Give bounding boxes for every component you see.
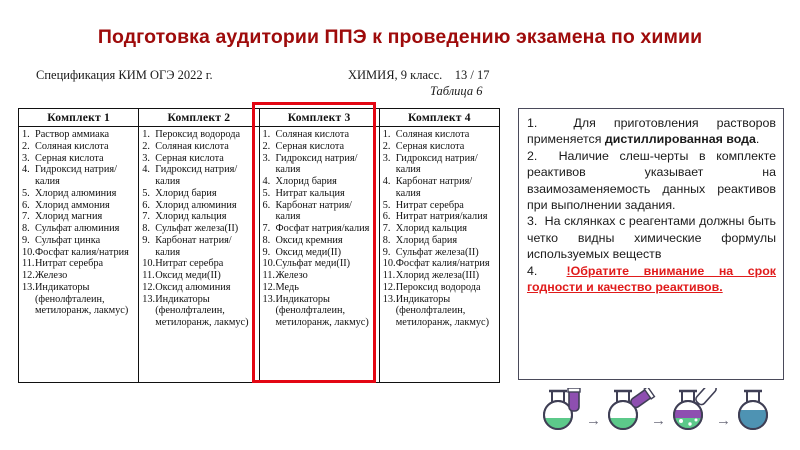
reagent-index: 6. xyxy=(383,211,396,223)
reagent-name: Сульфат меди(II) xyxy=(276,258,377,270)
arrow-1-icon: → xyxy=(586,412,601,429)
reagent-name: Железо xyxy=(276,270,377,282)
reagent-index: 5. xyxy=(263,188,276,200)
reagent-name: Серная кислота xyxy=(155,153,256,165)
reagent-name: Пероксид водорода xyxy=(155,129,256,141)
reagent-index: 12. xyxy=(22,270,35,282)
reagent-list: 1.Соляная кислота2.Серная кислота3.Гидро… xyxy=(380,127,499,331)
reagent-index: 2. xyxy=(383,141,396,153)
reagent-name: Оксид меди(II) xyxy=(276,247,377,259)
reagent-name: Индикаторы (фенолфталеин, метилоранж, ла… xyxy=(155,294,256,329)
reagent-name: Индикаторы (фенолфталеин, метилоранж, ла… xyxy=(276,294,377,329)
table-caption: Таблица 6 xyxy=(430,84,482,99)
reagent-index: 9. xyxy=(22,235,35,247)
reagent-index: 6. xyxy=(22,200,35,212)
reagent-name: Нитрат натрия/калия xyxy=(396,211,497,223)
reagent-item: 13.Индикаторы (фенолфталеин, метилоранж,… xyxy=(263,294,377,329)
reagent-index: 10. xyxy=(22,247,35,259)
note-number: 3. xyxy=(527,214,545,228)
reagent-item: 3.Гидроксид натрия/калия xyxy=(383,153,497,177)
kit-column-header: Комплект 4 xyxy=(380,109,499,127)
reagent-name: Нитрат серебра xyxy=(35,258,136,270)
reagent-index: 4. xyxy=(22,164,35,176)
reagent-index: 1. xyxy=(383,129,396,141)
reagent-index: 12. xyxy=(383,282,396,294)
reagent-item: 6.Нитрат натрия/калия xyxy=(383,211,497,223)
reaction-step-4-flask xyxy=(737,391,769,434)
reagent-item: 6.Хлорид алюминия xyxy=(142,200,256,212)
document-header: Спецификация КИМ ОГЭ 2022 г. ХИМИЯ, 9 кл… xyxy=(18,68,498,83)
reagent-index: 7. xyxy=(263,223,276,235)
reagent-kits-table: Комплект 11.Раствор аммиака2.Соляная кис… xyxy=(18,108,500,383)
reagent-item: 12.Пероксид водорода xyxy=(383,282,497,294)
reagent-index: 12. xyxy=(142,282,155,294)
reagent-index: 5. xyxy=(22,188,35,200)
note-number: 1. xyxy=(527,116,573,130)
reagent-item: 13.Индикаторы (фенолфталеин, метилоранж,… xyxy=(22,282,136,317)
arrow-3-icon: → xyxy=(716,412,731,429)
reagent-item: 9.Оксид меди(II) xyxy=(263,247,377,259)
reagent-name: Раствор аммиака xyxy=(35,129,136,141)
reagent-item: 4.Хлорид бария xyxy=(263,176,377,188)
reagent-item: 3.Серная кислота xyxy=(22,153,136,165)
reagent-name: Хлорид алюминия xyxy=(35,188,136,200)
reagent-name: Хлорид кальция xyxy=(396,223,497,235)
reagent-index: 5. xyxy=(142,188,155,200)
reagent-index: 8. xyxy=(263,235,276,247)
reagent-index: 13. xyxy=(22,282,35,294)
reagent-index: 4. xyxy=(142,164,155,176)
note-item-3: 3. На склянках с реагентами должны быть … xyxy=(527,213,776,262)
reagent-name: Пероксид водорода xyxy=(396,282,497,294)
reagent-name: Гидроксид натрия/калия xyxy=(35,164,136,188)
reagent-name: Гидроксид натрия/калия xyxy=(155,164,256,188)
reagent-item: 7.Фосфат натрия/калия xyxy=(263,223,377,235)
note-number: 4. xyxy=(527,264,567,278)
kit-column-header: Комплект 1 xyxy=(19,109,138,127)
reagent-item: 4.Карбонат натрия/калия xyxy=(383,176,497,200)
kit-column-4: Комплект 41.Соляная кислота2.Серная кисл… xyxy=(380,109,499,382)
reagent-name: Гидроксид натрия/калия xyxy=(396,153,497,177)
reagent-name: Хлорид алюминия xyxy=(155,200,256,212)
reagent-name: Хлорид железа(III) xyxy=(396,270,497,282)
reagent-name: Соляная кислота xyxy=(396,129,497,141)
reagent-item: 8.Сульфат железа(II) xyxy=(142,223,256,235)
reagent-item: 9.Карбонат натрия/калия xyxy=(142,235,256,259)
note-item-4: 4. !Обратите внимание на срок годности и… xyxy=(527,263,776,296)
specification-label: Спецификация КИМ ОГЭ 2022 г. xyxy=(36,68,213,83)
note-number: 2. xyxy=(527,149,559,163)
reagent-item: 2.Соляная кислота xyxy=(142,141,256,153)
reagent-item: 7.Хлорид кальция xyxy=(142,211,256,223)
reagent-name: Карбонат натрия/калия xyxy=(396,176,497,200)
reagent-item: 11.Железо xyxy=(263,270,377,282)
reagent-item: 11.Оксид меди(II) xyxy=(142,270,256,282)
reagent-index: 6. xyxy=(142,200,155,212)
chemistry-reaction-illustration: → → xyxy=(518,388,784,446)
notes-panel: 1. Для приготовления растворов применяет… xyxy=(518,108,784,380)
reagent-item: 10.Сульфат меди(II) xyxy=(263,258,377,270)
reagent-item: 9.Сульфат цинка xyxy=(22,235,136,247)
reagent-name: Соляная кислота xyxy=(155,141,256,153)
reagent-list: 1.Соляная кислота2.Серная кислота3.Гидро… xyxy=(260,127,379,331)
reagent-name: Карбонат натрия/калия xyxy=(155,235,256,259)
reagent-name: Карбонат натрия/калия xyxy=(276,200,377,224)
reagent-item: 5.Хлорид алюминия xyxy=(22,188,136,200)
reagent-item: 13.Индикаторы (фенолфталеин, метилоранж,… xyxy=(142,294,256,329)
reagent-item: 11.Хлорид железа(III) xyxy=(383,270,497,282)
reagent-item: 1.Соляная кислота xyxy=(383,129,497,141)
reagent-index: 4. xyxy=(383,176,396,188)
reagent-name: Индикаторы (фенолфталеин, метилоранж, ла… xyxy=(35,282,136,317)
reagent-index: 8. xyxy=(142,223,155,235)
reagent-name: Нитрат кальция xyxy=(276,188,377,200)
reagent-index: 10. xyxy=(383,258,396,270)
kit-column-1: Комплект 11.Раствор аммиака2.Соляная кис… xyxy=(19,109,139,382)
reagent-index: 11. xyxy=(263,270,276,282)
reagent-name: Оксид алюминия xyxy=(155,282,256,294)
kit-column-header: Комплект 2 xyxy=(139,109,258,127)
reagent-item: 6.Карбонат натрия/калия xyxy=(263,200,377,224)
reagent-index: 11. xyxy=(383,270,396,282)
note-emphasis: дистиллированная вода xyxy=(605,132,756,146)
reagent-item: 9.Сульфат железа(II) xyxy=(383,247,497,259)
reagent-index: 11. xyxy=(22,258,35,270)
reagent-name: Индикаторы (фенолфталеин, метилоранж, ла… xyxy=(396,294,497,329)
reagent-item: 4.Гидроксид натрия/калия xyxy=(142,164,256,188)
note-fragment: Наличие слеш-черты в комплекте реактивов… xyxy=(527,149,776,212)
reagent-item: 2.Серная кислота xyxy=(383,141,497,153)
reagent-item: 8.Хлорид бария xyxy=(383,235,497,247)
note-fragment: На склянках с реагентами должны быть чет… xyxy=(527,214,776,261)
reagent-item: 7.Хлорид магния xyxy=(22,211,136,223)
reagent-item: 12.Медь xyxy=(263,282,377,294)
reagent-name: Оксид кремния xyxy=(276,235,377,247)
reagent-index: 2. xyxy=(142,141,155,153)
reagent-name: Хлорид магния xyxy=(35,211,136,223)
reagent-name: Соляная кислота xyxy=(35,141,136,153)
page-title: Подготовка аудитории ППЭ к проведению эк… xyxy=(0,26,800,49)
reagent-index: 1. xyxy=(263,129,276,141)
reagent-name: Сульфат железа(II) xyxy=(155,223,256,235)
reagent-item: 8.Сульфат алюминия xyxy=(22,223,136,235)
reagent-index: 3. xyxy=(383,153,396,165)
arrow-2-icon: → xyxy=(651,412,666,429)
kit-column-2: Комплект 21.Пероксид водорода2.Соляная к… xyxy=(139,109,259,382)
reagent-item: 12.Железо xyxy=(22,270,136,282)
reagent-index: 7. xyxy=(22,211,35,223)
reagent-index: 8. xyxy=(22,223,35,235)
reagent-item: 3.Гидроксид натрия/калия xyxy=(263,153,377,177)
reagent-index: 2. xyxy=(22,141,35,153)
reagent-index: 9. xyxy=(263,247,276,259)
reagent-item: 7.Хлорид кальция xyxy=(383,223,497,235)
reagent-index: 3. xyxy=(263,153,276,165)
reagent-name: Сульфат алюминия xyxy=(35,223,136,235)
reagent-name: Нитрат серебра xyxy=(396,200,497,212)
reagent-index: 13. xyxy=(142,294,155,306)
reagent-item: 8.Оксид кремния xyxy=(263,235,377,247)
reagent-index: 3. xyxy=(22,153,35,165)
reagent-name: Фосфат калия/натрия xyxy=(396,258,497,270)
reaction-step-3-test-tube xyxy=(694,388,717,406)
reagent-item: 11.Нитрат серебра xyxy=(22,258,136,270)
note-text: На склянках с реагентами должны быть чет… xyxy=(527,214,776,261)
reagent-name: Нитрат серебра xyxy=(155,258,256,270)
reagent-name: Хлорид аммония xyxy=(35,200,136,212)
reagent-name: Сульфат железа(II) xyxy=(396,247,497,259)
reagent-index: 3. xyxy=(142,153,155,165)
reagent-name: Фосфат калия/натрия xyxy=(35,247,136,259)
reagent-index: 6. xyxy=(263,200,276,212)
reagent-index: 7. xyxy=(142,211,155,223)
reagent-item: 5.Нитрат серебра xyxy=(383,200,497,212)
reagent-name: Хлорид кальция xyxy=(155,211,256,223)
reagent-item: 10.Фосфат калия/натрия xyxy=(22,247,136,259)
reagent-name: Оксид меди(II) xyxy=(155,270,256,282)
page-number: 13 / 17 xyxy=(455,68,490,82)
note-text: Наличие слеш-черты в комплекте реактивов… xyxy=(527,149,776,212)
reagent-item: 5.Хлорид бария xyxy=(142,188,256,200)
reagent-index: 9. xyxy=(383,247,396,259)
reagent-name: Хлорид бария xyxy=(155,188,256,200)
reagent-index: 12. xyxy=(263,282,276,294)
reagent-item: 5.Нитрат кальция xyxy=(263,188,377,200)
reagent-index: 10. xyxy=(263,258,276,270)
reagent-index: 1. xyxy=(22,129,35,141)
reagent-item: 1.Раствор аммиака xyxy=(22,129,136,141)
reagent-item: 1.Пероксид водорода xyxy=(142,129,256,141)
kit-column-header: Комплект 3 xyxy=(260,109,379,127)
reagent-name: Железо xyxy=(35,270,136,282)
reagent-item: 3.Серная кислота xyxy=(142,153,256,165)
reagent-index: 13. xyxy=(383,294,396,306)
reagent-index: 13. xyxy=(263,294,276,306)
kit-column-3: Комплект 31.Соляная кислота2.Серная кисл… xyxy=(260,109,380,382)
reagent-item: 4.Гидроксид натрия/калия xyxy=(22,164,136,188)
reagent-index: 1. xyxy=(142,129,155,141)
reagent-index: 9. xyxy=(142,235,155,247)
reagent-name: Гидроксид натрия/калия xyxy=(276,153,377,177)
reagent-name: Соляная кислота xyxy=(276,129,377,141)
reagent-index: 10. xyxy=(142,258,155,270)
reagent-item: 10.Фосфат калия/натрия xyxy=(383,258,497,270)
reagent-name: Хлорид бария xyxy=(276,176,377,188)
reaction-step-1-test-tube xyxy=(568,388,580,411)
reagent-item: 13.Индикаторы (фенолфталеин, метилоранж,… xyxy=(383,294,497,329)
reagent-list: 1.Раствор аммиака2.Соляная кислота3.Серн… xyxy=(19,127,138,319)
reagent-name: Медь xyxy=(276,282,377,294)
reagent-name: Серная кислота xyxy=(35,153,136,165)
reaction-step-2-test-tube xyxy=(629,388,655,410)
reagent-name: Серная кислота xyxy=(276,141,377,153)
reagent-list: 1.Пероксид водорода2.Соляная кислота3.Се… xyxy=(139,127,258,331)
reagent-item: 2.Серная кислота xyxy=(263,141,377,153)
reagent-item: 10.Нитрат серебра xyxy=(142,258,256,270)
reagent-item: 2.Соляная кислота xyxy=(22,141,136,153)
reagent-name: Хлорид бария xyxy=(396,235,497,247)
reagent-index: 7. xyxy=(383,223,396,235)
reagent-name: Серная кислота xyxy=(396,141,497,153)
reagent-name: Фосфат натрия/калия xyxy=(276,223,377,235)
reagent-item: 1.Соляная кислота xyxy=(263,129,377,141)
reagent-index: 4. xyxy=(263,176,276,188)
reagent-index: 2. xyxy=(263,141,276,153)
reagent-item: 6.Хлорид аммония xyxy=(22,200,136,212)
subject-label: ХИМИЯ, 9 класс. 13 / 17 xyxy=(348,68,489,83)
note-fragment: . xyxy=(756,132,759,146)
reagent-index: 11. xyxy=(142,270,155,282)
reagent-item: 12.Оксид алюминия xyxy=(142,282,256,294)
note-item-1: 1. Для приготовления растворов применяет… xyxy=(527,115,776,148)
reagent-index: 5. xyxy=(383,200,396,212)
reagent-index: 8. xyxy=(383,235,396,247)
reagent-name: Сульфат цинка xyxy=(35,235,136,247)
subject-text: ХИМИЯ, 9 класс. xyxy=(348,68,442,82)
note-item-2: 2. Наличие слеш-черты в комплекте реакти… xyxy=(527,148,776,214)
